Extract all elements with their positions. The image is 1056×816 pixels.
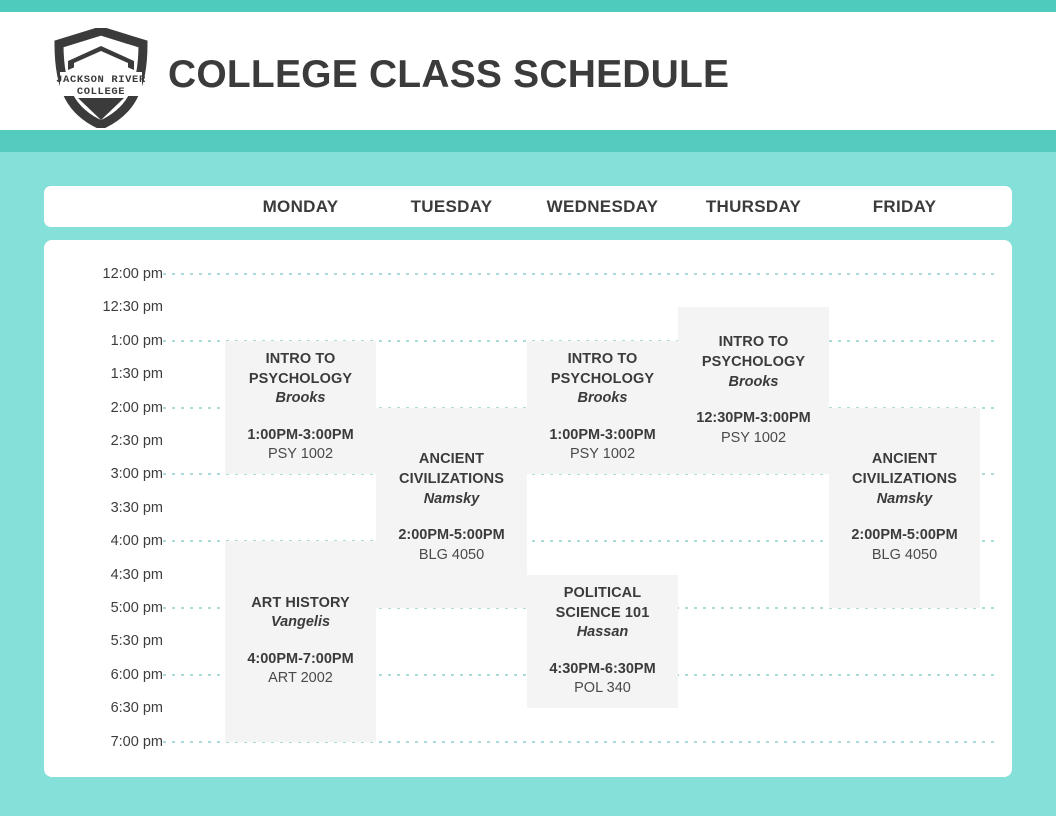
day-header-monday: MONDAY — [225, 186, 376, 227]
time-label: 5:30 pm — [44, 633, 163, 649]
time-label: 5:00 pm — [44, 600, 163, 616]
event-block[interactable]: POLITICAL SCIENCE 101Hassan4:30PM-6:30PM… — [527, 575, 678, 709]
event-title: INTRO TO PSYCHOLOGY — [533, 350, 672, 389]
event-room: POL 340 — [574, 679, 631, 699]
time-label: 6:30 pm — [44, 700, 163, 716]
event-time: 4:30PM-6:30PM — [549, 660, 655, 680]
event-title: INTRO TO PSYCHOLOGY — [231, 350, 370, 389]
logo-line1: JACKSON RIVER — [56, 74, 146, 86]
time-label: 12:30 pm — [44, 299, 163, 315]
schedule-grid-card: 12:00 pm12:30 pm1:00 pm1:30 pm2:00 pm2:3… — [44, 240, 1012, 777]
time-label: 4:30 pm — [44, 567, 163, 583]
time-label: 4:00 pm — [44, 533, 163, 549]
time-label: 2:30 pm — [44, 433, 163, 449]
top-accent-bar — [0, 0, 1056, 12]
time-label: 1:30 pm — [44, 366, 163, 382]
event-professor: Brooks — [729, 373, 779, 393]
event-block[interactable]: ANCIENT CIVILIZATIONSNamsky2:00PM-5:00PM… — [376, 408, 527, 608]
event-professor: Hassan — [577, 623, 629, 643]
event-time: 1:00PM-3:00PM — [247, 426, 353, 446]
day-header-thursday: THURSDAY — [678, 186, 829, 227]
day-header-wednesday: WEDNESDAY — [527, 186, 678, 227]
time-label: 7:00 pm — [44, 734, 163, 750]
event-time: 1:00PM-3:00PM — [549, 426, 655, 446]
day-header-card: MONDAYTUESDAYWEDNESDAYTHURSDAYFRIDAY — [44, 186, 1012, 227]
event-room: PSY 1002 — [268, 445, 333, 465]
shield-logo-icon: JACKSON RIVER COLLEGE — [54, 28, 148, 128]
day-header-friday: FRIDAY — [829, 186, 980, 227]
event-professor: Namsky — [424, 490, 480, 510]
event-professor: Vangelis — [271, 613, 330, 633]
event-room: PSY 1002 — [570, 445, 635, 465]
event-professor: Brooks — [578, 389, 628, 409]
hour-gridline — [163, 273, 998, 275]
event-room: PSY 1002 — [721, 429, 786, 449]
event-title: INTRO TO PSYCHOLOGY — [684, 333, 823, 372]
event-title: ART HISTORY — [251, 594, 350, 614]
event-professor: Brooks — [276, 389, 326, 409]
mid-accent-bar — [0, 130, 1056, 152]
day-header-tuesday: TUESDAY — [376, 186, 527, 227]
event-time: 12:30PM-3:00PM — [696, 409, 810, 429]
time-label: 6:00 pm — [44, 667, 163, 683]
time-label: 3:30 pm — [44, 500, 163, 516]
time-label: 2:00 pm — [44, 400, 163, 416]
time-label: 12:00 pm — [44, 266, 163, 282]
event-time: 2:00PM-5:00PM — [398, 526, 504, 546]
event-time: 2:00PM-5:00PM — [851, 526, 957, 546]
event-block[interactable]: INTRO TO PSYCHOLOGYBrooks1:00PM-3:00PMPS… — [527, 341, 678, 475]
time-label: 1:00 pm — [44, 333, 163, 349]
event-time: 4:00PM-7:00PM — [247, 650, 353, 670]
logo-line2: COLLEGE — [77, 86, 125, 98]
event-room: BLG 4050 — [419, 546, 484, 566]
page-title: COLLEGE CLASS SCHEDULE — [168, 54, 729, 97]
time-label: 3:00 pm — [44, 466, 163, 482]
event-professor: Namsky — [877, 490, 933, 510]
event-title: ANCIENT CIVILIZATIONS — [382, 450, 521, 489]
event-room: ART 2002 — [268, 669, 333, 689]
event-block[interactable]: ANCIENT CIVILIZATIONSNamsky2:00PM-5:00PM… — [829, 408, 980, 608]
event-room: BLG 4050 — [872, 546, 937, 566]
event-block[interactable]: INTRO TO PSYCHOLOGYBrooks1:00PM-3:00PMPS… — [225, 341, 376, 475]
event-block[interactable]: INTRO TO PSYCHOLOGYBrooks12:30PM-3:00PMP… — [678, 307, 829, 474]
event-title: ANCIENT CIVILIZATIONS — [835, 450, 974, 489]
event-block[interactable]: ART HISTORYVangelis4:00PM-7:00PMART 2002 — [225, 541, 376, 741]
event-title: POLITICAL SCIENCE 101 — [533, 584, 672, 623]
